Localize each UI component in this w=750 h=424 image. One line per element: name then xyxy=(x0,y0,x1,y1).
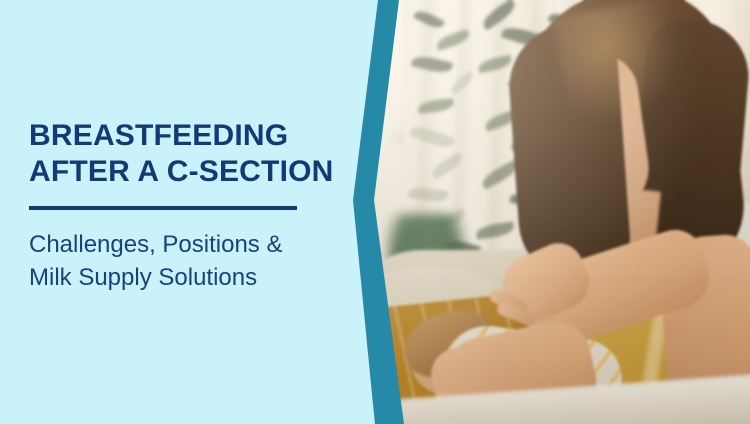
mother-hair-highlight xyxy=(551,0,693,137)
subtitle-line-1: Challenges, Positions & xyxy=(29,228,329,261)
title-line-2: AFTER A C-SECTION xyxy=(29,154,329,190)
subtitle-line-2: Milk Supply Solutions xyxy=(29,261,329,294)
photo-scene xyxy=(352,0,750,424)
page-title: BREASTFEEDING AFTER A C-SECTION xyxy=(29,118,329,190)
banner: BREASTFEEDING AFTER A C-SECTION Challeng… xyxy=(0,0,750,424)
hero-photo xyxy=(352,0,750,424)
page-subtitle: Challenges, Positions & Milk Supply Solu… xyxy=(29,228,329,294)
headline-block: BREASTFEEDING AFTER A C-SECTION Challeng… xyxy=(29,118,329,294)
title-divider xyxy=(29,206,297,210)
text-panel: BREASTFEEDING AFTER A C-SECTION Challeng… xyxy=(0,0,352,424)
title-line-1: BREASTFEEDING xyxy=(29,118,329,154)
